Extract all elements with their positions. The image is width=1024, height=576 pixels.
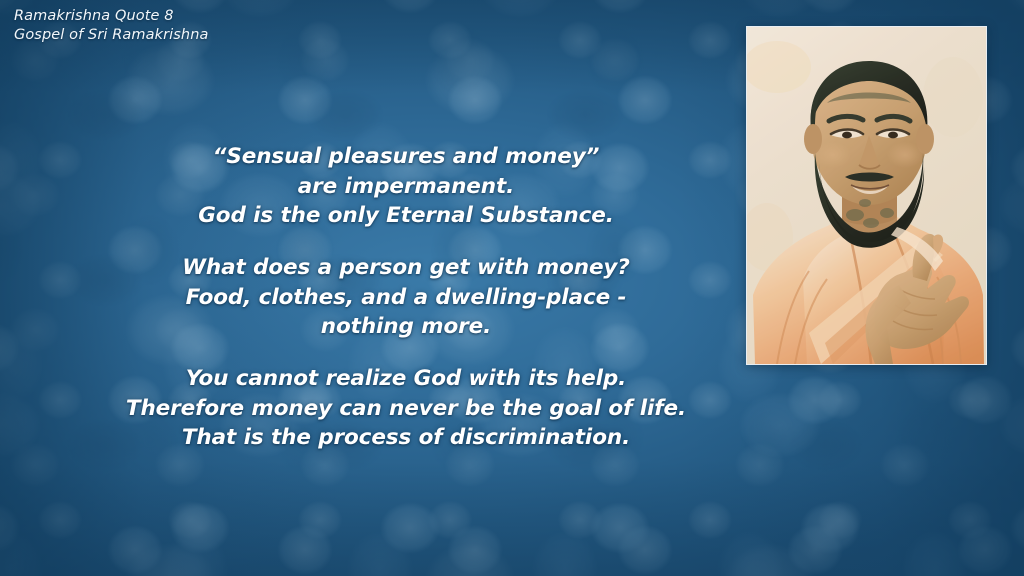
quote-text-block: “Sensual pleasures and money” are imperm…	[0, 142, 812, 453]
quote-stanza: “Sensual pleasures and money” are imperm…	[0, 142, 812, 231]
quote-title: Ramakrishna Quote 8	[14, 7, 209, 26]
quote-line: Food, clothes, and a dwelling-place -	[0, 283, 812, 313]
quote-line: God is the only Eternal Substance.	[0, 201, 812, 231]
quote-line: “Sensual pleasures and money”	[0, 142, 812, 172]
quote-stanza: You cannot realize God with its help. Th…	[0, 364, 812, 453]
quote-stanza: What does a person get with money? Food,…	[0, 253, 812, 342]
quote-line: are impermanent.	[0, 172, 812, 202]
quote-line: You cannot realize God with its help.	[0, 364, 812, 394]
quote-line: Therefore money can never be the goal of…	[0, 394, 812, 424]
quote-line: What does a person get with money?	[0, 253, 812, 283]
quote-source: Gospel of Sri Ramakrishna	[14, 26, 209, 45]
quote-line: That is the process of discrimination.	[0, 423, 812, 453]
portrait-illustration	[747, 27, 986, 364]
ramakrishna-portrait-photo	[746, 26, 987, 365]
quote-slide: Ramakrishna Quote 8 Gospel of Sri Ramakr…	[0, 0, 1024, 576]
quote-line: nothing more.	[0, 312, 812, 342]
slide-header: Ramakrishna Quote 8 Gospel of Sri Ramakr…	[14, 7, 209, 44]
